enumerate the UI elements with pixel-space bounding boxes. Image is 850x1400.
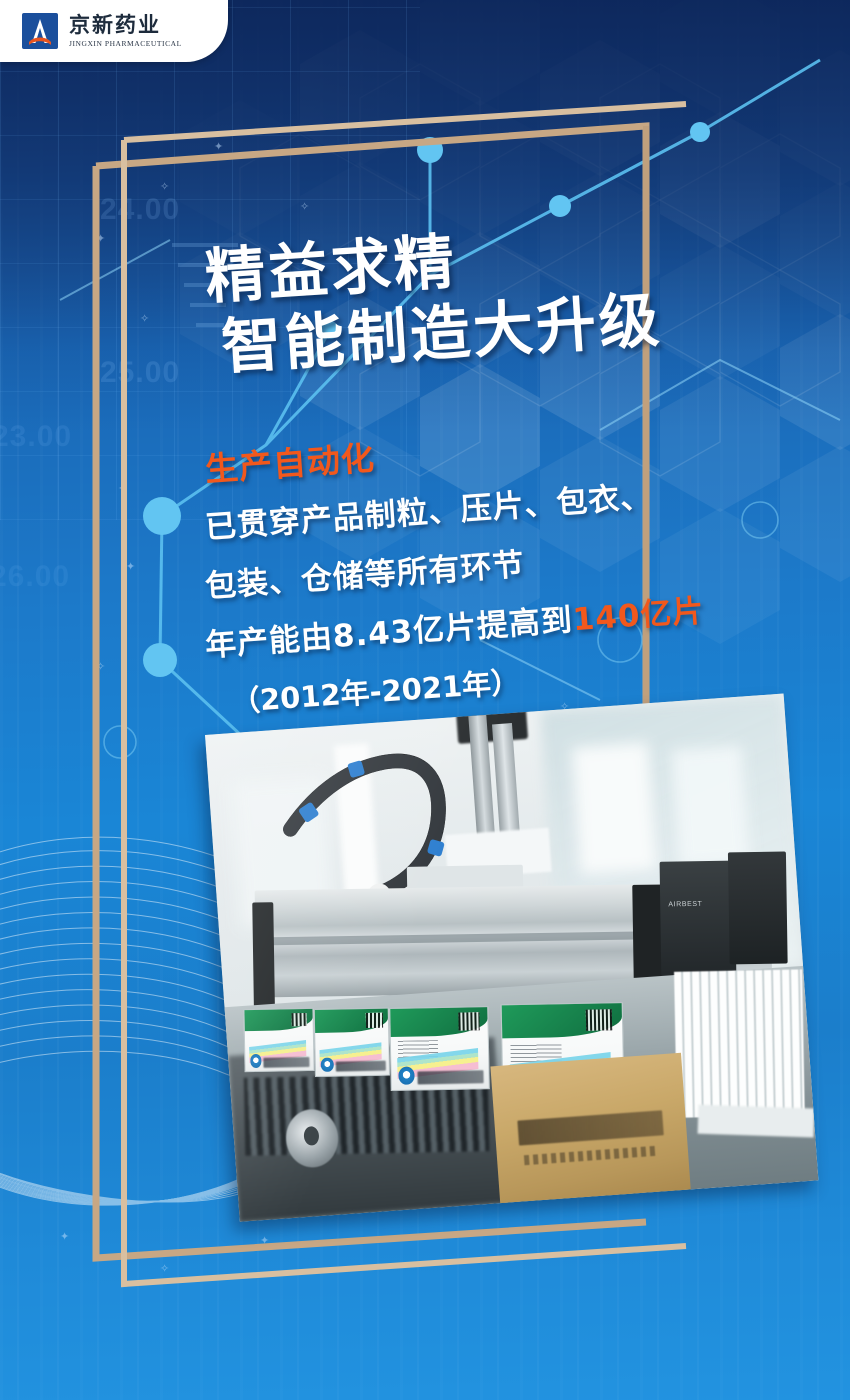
sparkle-icon: ✧ (300, 200, 309, 213)
jingxin-logo-mark-icon (22, 13, 58, 49)
sparkle-icon: ✦ (60, 1230, 69, 1243)
sparkle-icon: ✦ (118, 482, 127, 495)
brand-header-badge[interactable]: 京新药业 JINGXIN PHARMACEUTICAL (0, 0, 228, 62)
brand-name-en: JINGXIN PHARMACEUTICAL (69, 39, 182, 48)
sparkle-icon: ✧ (96, 660, 105, 673)
poster-root: 24.00 25.00 23.00 26.00 (0, 0, 850, 1400)
capacity-highlight-value: 140亿片 (572, 593, 706, 638)
sparkle-icon: ✦ (260, 1234, 269, 1247)
brand-name-cn: 京新药业 (69, 14, 182, 37)
sparkle-icon: ✧ (140, 312, 149, 325)
sparkle-icon: ✦ (214, 140, 223, 153)
capacity-prefix-text: 年产能由8.43亿片提高到 (204, 602, 574, 664)
sparkle-icon: ✧ (160, 1262, 169, 1275)
content-block: 生产自动化 已贯穿产品制粒、压片、包衣、 包装、仓储等所有环节 年产能由8.43… (205, 443, 845, 721)
brand-wordmark: 京新药业 JINGXIN PHARMACEUTICAL (69, 14, 182, 48)
photo-glare-overlay (205, 694, 818, 1222)
sparkle-icon: ✦ (96, 232, 105, 245)
production-line-photo: AIRBEST (205, 694, 818, 1222)
sparkle-icon: ✦ (126, 560, 135, 573)
sparkle-icon: ✧ (160, 180, 169, 193)
